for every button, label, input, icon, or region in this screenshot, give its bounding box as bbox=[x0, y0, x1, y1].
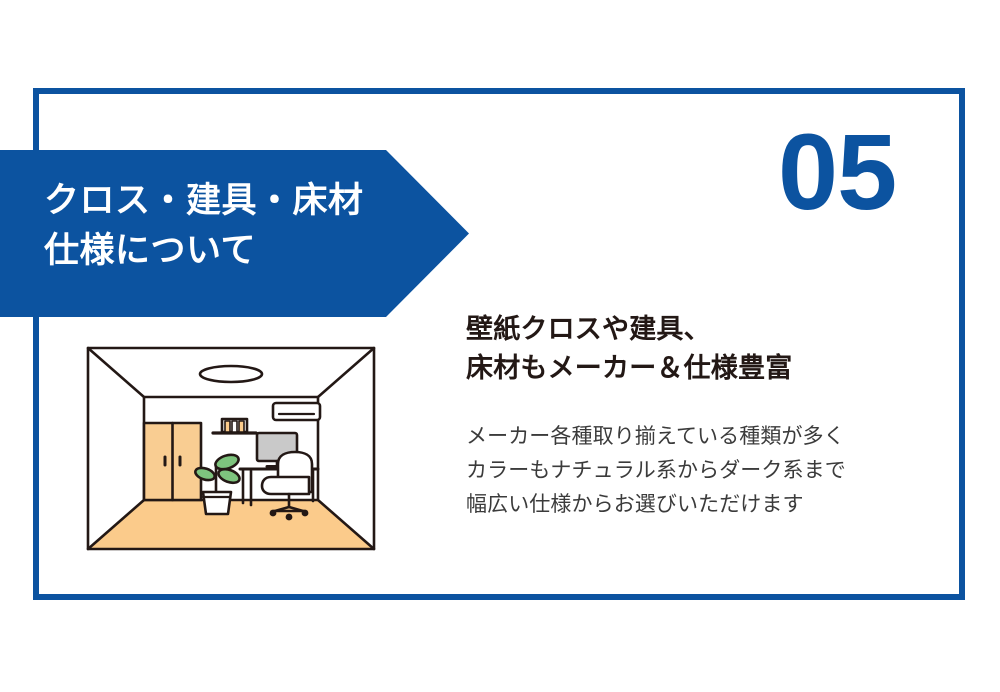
chair-seat bbox=[262, 477, 309, 494]
slide-canvas: クロス・建具・床材 仕様について 05 壁紙クロスや建具、 床材もメーカー＆仕様… bbox=[0, 0, 1000, 692]
content-headline: 壁紙クロスや建具、 床材もメーカー＆仕様豊富 bbox=[466, 310, 896, 389]
content-body-text: メーカー各種取り揃えている種類が多く カラーもナチュラル系からダーク系まで 幅広… bbox=[466, 420, 906, 522]
room-illustration-svg bbox=[85, 345, 377, 552]
perspective-line-top-left bbox=[88, 348, 144, 397]
chair-caster-center bbox=[286, 514, 293, 521]
ceiling-light-icon bbox=[200, 366, 262, 382]
section-number-badge: 05 bbox=[778, 118, 896, 226]
shelf-book-2 bbox=[232, 421, 237, 432]
shelf-book-1 bbox=[225, 421, 230, 432]
room-interior-illustration bbox=[85, 345, 377, 552]
floor-surface bbox=[88, 500, 374, 549]
chair-caster-right bbox=[302, 510, 309, 517]
section-title-banner: クロス・建具・床材 仕様について bbox=[0, 150, 469, 317]
shelf-book-3 bbox=[239, 421, 244, 432]
section-title-text: クロス・建具・床材 仕様について bbox=[44, 176, 404, 275]
perspective-line-top-right bbox=[318, 348, 374, 397]
plant-pot bbox=[203, 492, 231, 514]
air-conditioner-icon bbox=[273, 403, 320, 420]
chair-caster-left bbox=[270, 510, 277, 517]
